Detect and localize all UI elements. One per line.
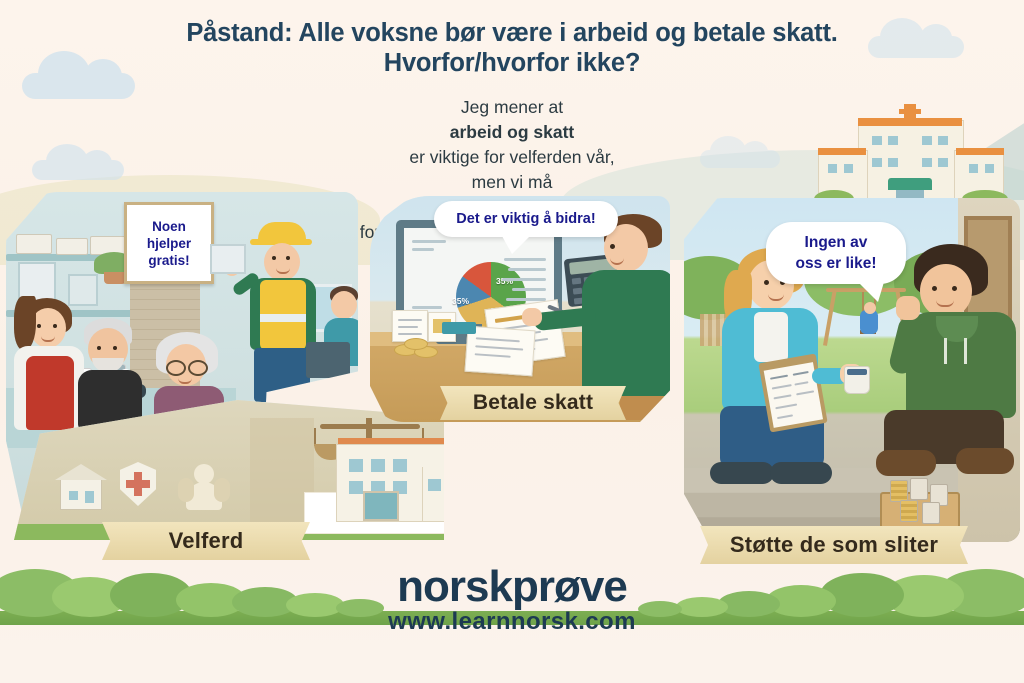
bubble-text-line-1: Ingen av — [805, 232, 868, 253]
head — [920, 264, 972, 318]
ponytail — [14, 296, 36, 350]
eye — [272, 256, 276, 260]
crate-of-cans — [880, 492, 960, 530]
family-icon — [180, 464, 228, 510]
coffee-mug-icon — [844, 366, 870, 394]
person-man-on-steps — [890, 250, 1020, 502]
school-building-icon — [336, 444, 444, 522]
can-icon — [922, 502, 940, 524]
clipboard-icon — [758, 353, 827, 432]
child-head — [864, 302, 876, 314]
glasses-icon — [188, 360, 208, 376]
poster-noen-hjelper-gratis: Noen hjelper gratis! — [124, 202, 214, 284]
boot-icon — [876, 450, 936, 476]
vest-stripe — [260, 314, 306, 322]
computer-monitor — [306, 342, 350, 378]
poster-canvas: Påstand: Alle voksne bør være i arbeid o… — [0, 0, 1024, 683]
brand-name: norskprøve — [0, 562, 1024, 612]
poster-line-3: gratis! — [148, 252, 189, 269]
page-title: Påstand: Alle voksne bør være i arbeid o… — [0, 18, 1024, 78]
speech-bubble-betale-skatt: Det er viktig å bidra! — [434, 201, 618, 237]
hoodie-string — [964, 338, 967, 364]
can-icon — [910, 478, 928, 500]
hand — [522, 308, 542, 326]
torso-green-sweater — [582, 270, 670, 396]
poster-line-1: Noen — [152, 218, 186, 235]
title-line-2: Hvorfor/hvorfor ikke? — [0, 48, 1024, 78]
person-social-worker — [716, 250, 846, 500]
subtitle-line-1: Jeg mener at arbeid og skatt er viktige … — [0, 95, 1024, 170]
shoe-icon — [710, 462, 774, 484]
person-elderly-man — [78, 320, 148, 430]
storage-box — [16, 234, 52, 254]
eye — [53, 324, 57, 328]
health-cross-icon — [126, 480, 150, 488]
person-taxpayer — [576, 218, 670, 398]
house-icon — [60, 478, 102, 510]
eye — [113, 346, 117, 350]
eye — [764, 280, 769, 285]
eye — [37, 324, 41, 328]
document-stand — [392, 310, 428, 342]
bubble-text: Det er viktig å bidra! — [456, 211, 595, 227]
can-icon — [890, 480, 908, 502]
eye — [97, 346, 101, 350]
eye — [610, 244, 615, 249]
plant-pot — [104, 272, 126, 284]
brand-url: www.learnnorsk.com — [0, 608, 1024, 636]
eye — [952, 286, 957, 291]
can-icon — [900, 500, 918, 522]
eye — [286, 256, 290, 260]
notice-paper — [210, 244, 246, 274]
head — [264, 243, 300, 281]
red-apron — [26, 356, 74, 430]
ribbon-text: Betale skatt — [473, 391, 593, 415]
speech-bubble-stotte: Ingen av oss er like! — [766, 222, 906, 284]
coffee-surface — [847, 369, 867, 375]
person-construction-worker — [238, 226, 324, 406]
bubble-text-line-2: oss er like! — [796, 253, 877, 274]
pie-label-2: 35% — [452, 296, 469, 306]
coin-icon — [404, 338, 428, 350]
glasses-icon — [166, 360, 186, 376]
ribbon-label-betale-skatt: Betale skatt — [440, 386, 626, 420]
storage-box — [56, 238, 88, 255]
head — [331, 291, 357, 319]
poster-line-2: hjelper — [147, 235, 191, 252]
title-line-1: Påstand: Alle voksne bør være i arbeid o… — [186, 19, 837, 47]
hoodie-string — [944, 338, 947, 364]
hand — [896, 296, 920, 320]
shoe-icon — [770, 462, 832, 484]
boot-icon — [956, 448, 1014, 474]
stapler-icon — [442, 322, 476, 334]
white-tshirt — [754, 312, 788, 362]
eye — [932, 286, 937, 291]
